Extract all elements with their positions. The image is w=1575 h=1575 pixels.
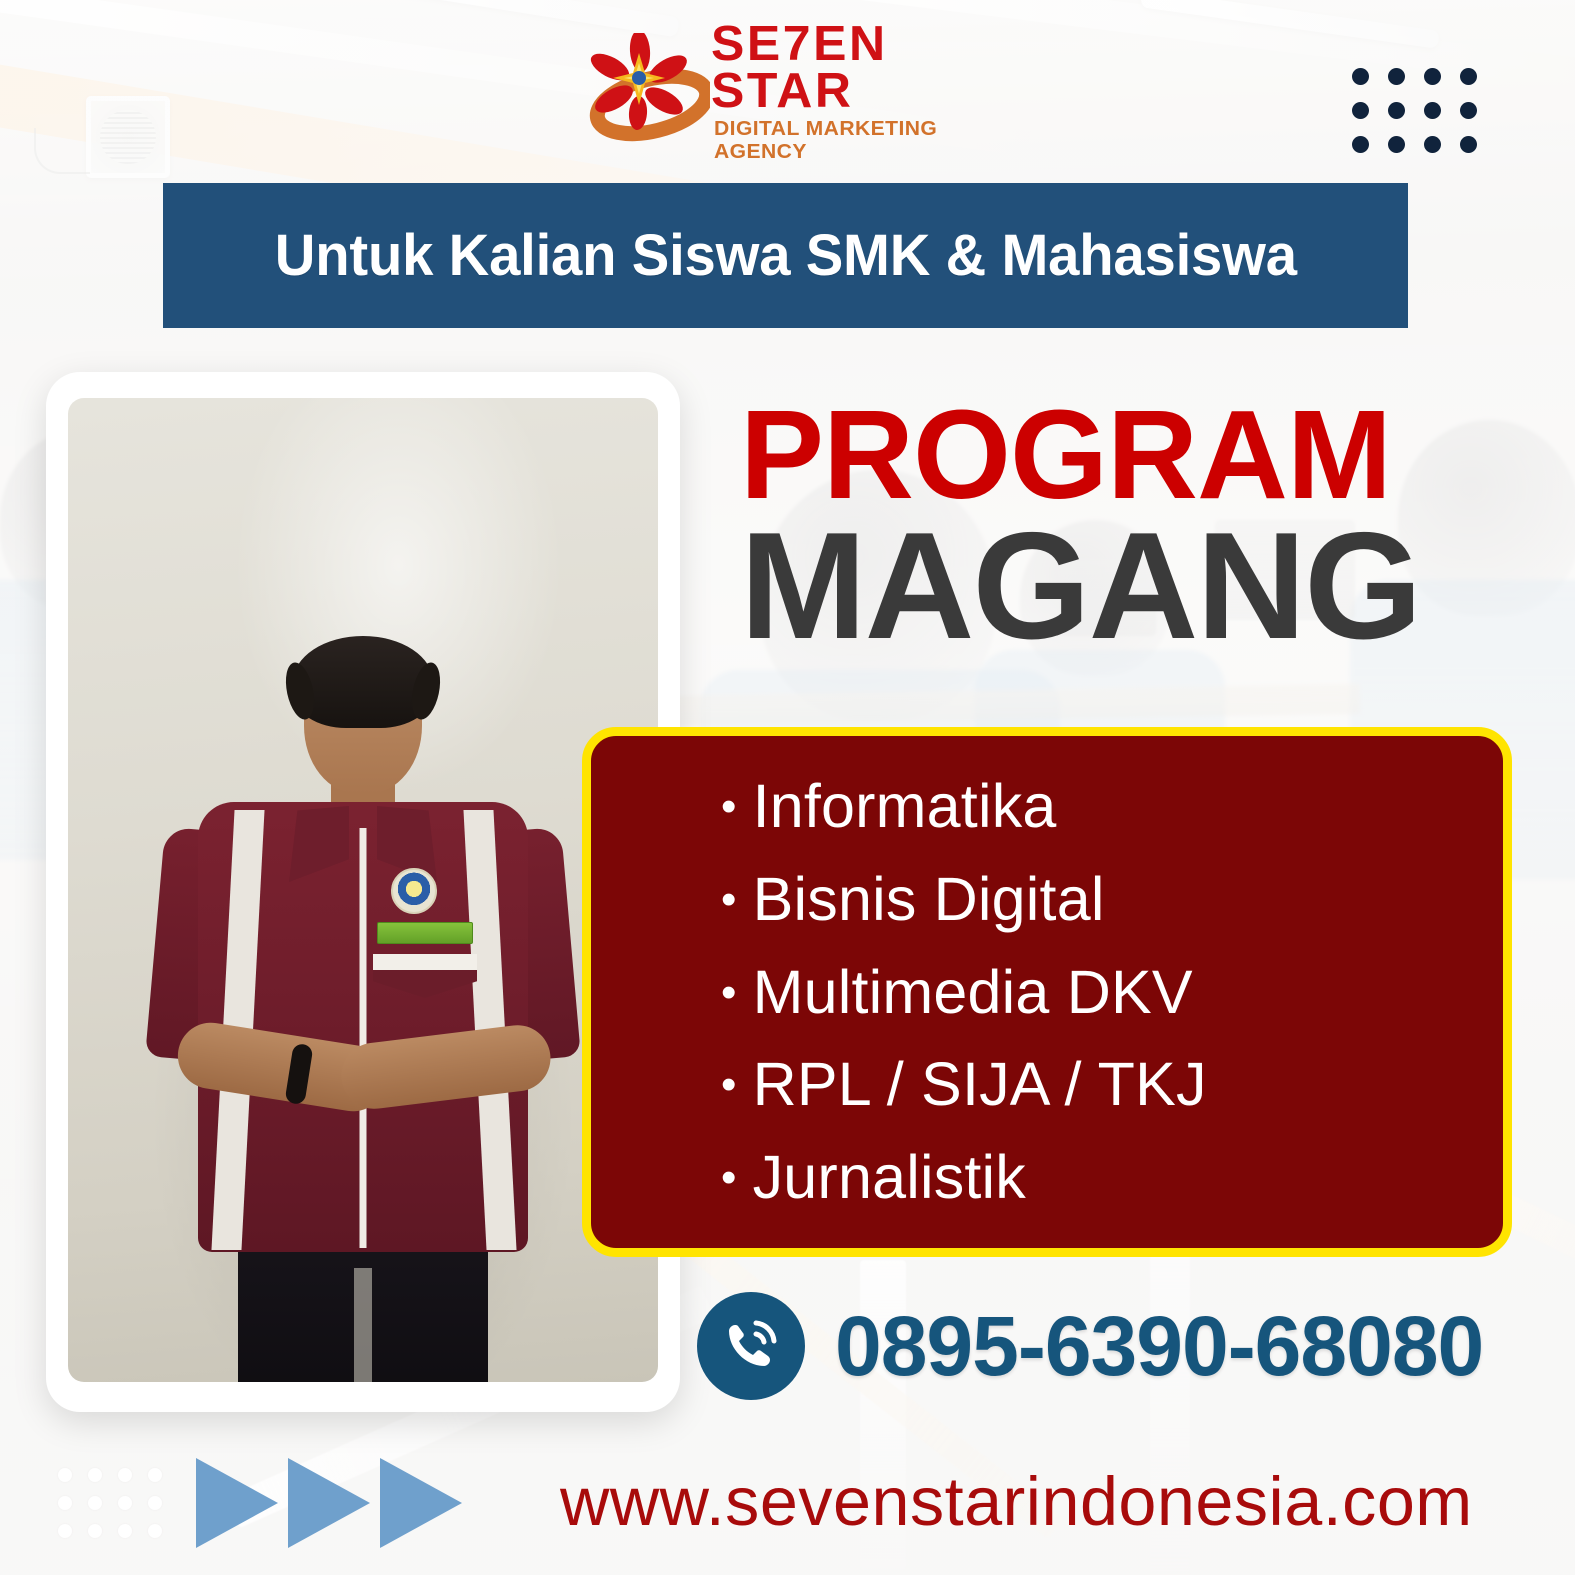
banner-text: Untuk Kalian Siswa SMK & Mahasiswa: [274, 222, 1296, 289]
page-title: PROGRAM MAGANG: [740, 392, 1520, 662]
contact-phone-number[interactable]: 0895-6390-68080: [835, 1298, 1483, 1395]
decor-dot: [58, 1468, 72, 1482]
decor-dot: [118, 1468, 132, 1482]
list-item: • RPL / SIJA / TKJ: [721, 1038, 1503, 1131]
decor-dot: [88, 1524, 102, 1538]
contact-website[interactable]: www.sevenstarindonesia.com: [560, 1462, 1473, 1541]
decor-dot: [1388, 136, 1405, 153]
list-item-label: RPL / SIJA / TKJ: [753, 1038, 1207, 1131]
photo-subject-hair: [293, 636, 433, 728]
program-list-box: • Informatika • Bisnis Digital • Multime…: [582, 727, 1512, 1257]
list-item: • Jurnalistik: [721, 1131, 1503, 1224]
list-item: • Multimedia DKV: [721, 946, 1503, 1039]
decor-dot: [1460, 136, 1477, 153]
decor-dot: [1424, 102, 1441, 119]
list-item: • Informatika: [721, 760, 1503, 853]
bullet-icon: •: [721, 1063, 737, 1107]
decor-dot: [1424, 136, 1441, 153]
headline-banner: Untuk Kalian Siswa SMK & Mahasiswa: [163, 183, 1408, 328]
list-item-label: Informatika: [753, 760, 1057, 853]
brand-tagline: DIGITAL MARKETING AGENCY: [714, 118, 1027, 163]
decor-dot: [148, 1468, 162, 1482]
decor-dot: [1424, 68, 1441, 85]
decor-dot-grid-top-right: [1352, 68, 1496, 170]
brand-wordmark: SE7EN STAR DIGITAL MARKETING AGENCY: [714, 15, 1018, 163]
decor-dot: [58, 1524, 72, 1538]
arrow-right-icon: [288, 1458, 370, 1548]
list-item-label: Jurnalistik: [753, 1131, 1026, 1224]
decor-dot: [118, 1496, 132, 1510]
decor-dot: [1388, 102, 1405, 119]
decor-dot: [1352, 136, 1369, 153]
decor-dot: [118, 1524, 132, 1538]
decor-dot: [148, 1524, 162, 1538]
brand-logo: SE7EN STAR DIGITAL MARKETING AGENCY: [588, 30, 1018, 148]
decor-dot-grid-bottom-left: [58, 1468, 178, 1552]
poster-root: SE7EN STAR DIGITAL MARKETING AGENCY Untu…: [0, 0, 1575, 1575]
decor-dot: [1460, 102, 1477, 119]
list-item-label: Bisnis Digital: [753, 853, 1105, 946]
bullet-icon: •: [721, 1156, 737, 1200]
bullet-icon: •: [721, 971, 737, 1015]
decor-dot: [1352, 102, 1369, 119]
list-item-label: Multimedia DKV: [753, 946, 1193, 1039]
headline-magang: MAGANG: [740, 510, 1520, 662]
headline-program: PROGRAM: [740, 392, 1520, 518]
decor-dot: [88, 1468, 102, 1482]
decor-dot: [148, 1496, 162, 1510]
photo-subject-name-patch: [377, 922, 473, 944]
student-photo: [68, 398, 658, 1382]
photo-subject-school-badge: [391, 868, 437, 914]
list-item: • Bisnis Digital: [721, 853, 1503, 946]
seven-star-flower-swoosh-icon: [588, 33, 710, 145]
contact-phone-row[interactable]: 0895-6390-68080: [697, 1292, 1483, 1400]
arrow-right-icon: [196, 1458, 278, 1548]
decor-dot: [1388, 68, 1405, 85]
arrow-right-icon: [380, 1458, 462, 1548]
photo-subject-uniform-placket: [360, 828, 367, 1248]
decor-dot: [88, 1496, 102, 1510]
decor-dot: [1460, 68, 1477, 85]
brand-name: SE7EN STAR: [711, 21, 1021, 115]
photo-subject-legs: [238, 1234, 488, 1382]
bullet-icon: •: [721, 785, 737, 829]
phone-ringing-icon: [697, 1292, 805, 1400]
bullet-icon: •: [721, 878, 737, 922]
decor-dot: [58, 1496, 72, 1510]
decor-dot: [1352, 68, 1369, 85]
decor-arrow-group: [196, 1458, 462, 1548]
